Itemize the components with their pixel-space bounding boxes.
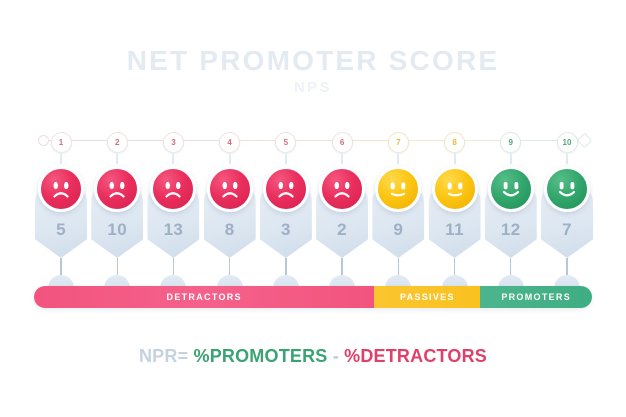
scale-node-label: 10: [563, 138, 572, 147]
scale-node-label: 6: [340, 138, 344, 147]
badge-value: 12: [485, 220, 537, 240]
badge-value: 7: [541, 220, 593, 240]
score-badge-10[interactable]: 7: [541, 186, 593, 258]
happy-face-icon: [488, 166, 534, 212]
connector-top-10: [566, 152, 568, 164]
badge-value: 13: [147, 220, 199, 240]
category-segment-passives[interactable]: PASSIVES: [374, 286, 480, 308]
scale-node-label: 9: [509, 138, 513, 147]
connector-top-9: [510, 152, 512, 164]
scale-node-label: 7: [396, 138, 400, 147]
connector-top-7: [397, 152, 399, 164]
scale-node-label: 3: [171, 138, 175, 147]
badge-value: 10: [91, 220, 143, 240]
score-badge-2[interactable]: 10: [91, 186, 143, 258]
scale-rail: 12345678910: [38, 129, 590, 153]
badge-value: 9: [372, 220, 424, 240]
circle-endpoint-icon: [38, 135, 49, 146]
category-segment-promoters[interactable]: PROMOTERS: [480, 286, 592, 308]
scale-node-4[interactable]: 4: [219, 132, 240, 153]
happy-face-icon: [544, 166, 590, 212]
neutral-face-icon: [432, 166, 478, 212]
scale-node-label: 1: [59, 138, 63, 147]
connector-top-8: [454, 152, 456, 164]
badge-value: 3: [260, 220, 312, 240]
scale-node-label: 2: [115, 138, 119, 147]
diamond-endpoint-icon: [577, 133, 593, 149]
formula-detractors: %DETRACTORS: [344, 346, 487, 366]
scale-node-8[interactable]: 8: [444, 132, 465, 153]
scale-node-label: 4: [227, 138, 231, 147]
sad-face-icon: [263, 166, 309, 212]
title-block: NET PROMOTER SCORE NPS: [0, 46, 626, 96]
scale-node-1[interactable]: 1: [51, 132, 72, 153]
category-bar: DETRACTORS PASSIVES PROMOTERS: [34, 286, 592, 308]
scale-node-7[interactable]: 7: [388, 132, 409, 153]
scale-node-6[interactable]: 6: [332, 132, 353, 153]
score-badge-8[interactable]: 11: [429, 186, 481, 258]
connector-top-5: [285, 152, 287, 164]
sad-face-icon: [38, 166, 84, 212]
score-badge-6[interactable]: 2: [316, 186, 368, 258]
sad-face-icon: [207, 166, 253, 212]
sad-face-icon: [94, 166, 140, 212]
score-badge-3[interactable]: 13: [147, 186, 199, 258]
connector-top-4: [229, 152, 231, 164]
sad-face-icon: [319, 166, 365, 212]
sad-face-icon: [150, 166, 196, 212]
connector-top-6: [341, 152, 343, 164]
formula: NPR= %PROMOTERS - %DETRACTORS: [0, 346, 626, 367]
score-badge-1[interactable]: 5: [35, 186, 87, 258]
scale-node-10[interactable]: 10: [557, 132, 578, 153]
neutral-face-icon: [375, 166, 421, 212]
badge-value: 5: [35, 220, 87, 240]
score-badge-4[interactable]: 8: [204, 186, 256, 258]
scale-node-5[interactable]: 5: [275, 132, 296, 153]
formula-promoters: %PROMOTERS: [194, 346, 328, 366]
page-title: NET PROMOTER SCORE: [0, 46, 626, 75]
badge-value: 8: [204, 220, 256, 240]
scale-node-2[interactable]: 2: [107, 132, 128, 153]
score-badge-9[interactable]: 12: [485, 186, 537, 258]
category-segment-detractors[interactable]: DETRACTORS: [34, 286, 374, 308]
connector-top-1: [60, 152, 62, 164]
scale-node-9[interactable]: 9: [500, 132, 521, 153]
formula-minus: -: [333, 346, 339, 366]
badge-value: 2: [316, 220, 368, 240]
scale-node-label: 8: [452, 138, 456, 147]
connector-top-3: [172, 152, 174, 164]
scale-node-label: 5: [284, 138, 288, 147]
page-subtitle: NPS: [0, 79, 626, 96]
score-badge-5[interactable]: 3: [260, 186, 312, 258]
badge-value: 11: [429, 220, 481, 240]
score-badge-7[interactable]: 9: [372, 186, 424, 258]
connector-top-2: [116, 152, 118, 164]
formula-label: NPR=: [139, 346, 188, 366]
scale-node-3[interactable]: 3: [163, 132, 184, 153]
